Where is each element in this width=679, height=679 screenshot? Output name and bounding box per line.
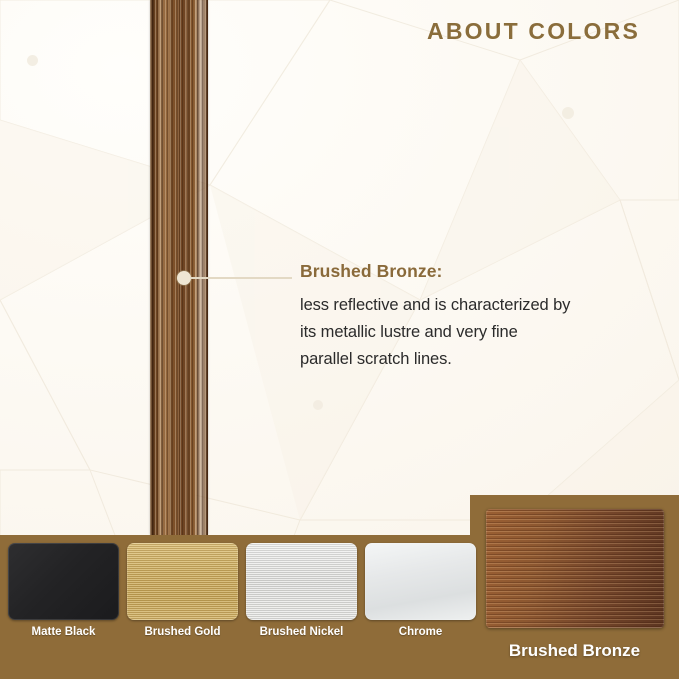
infographic-canvas: ABOUT COLORS Brushed Bronze: less reflec… <box>0 0 679 679</box>
swatch-label-matte-black: Matte Black <box>8 626 119 638</box>
swatch-matte-black[interactable] <box>8 543 119 620</box>
swatch-label-brushed-nickel: Brushed Nickel <box>246 626 357 638</box>
bar-highlight <box>158 0 173 535</box>
page-title: ABOUT COLORS <box>427 18 640 45</box>
callout-text-block: Brushed Bronze: less reflective and is c… <box>300 262 660 372</box>
background-dot-3 <box>313 400 323 410</box>
swatch-chrome[interactable] <box>365 543 476 620</box>
swatch-brushed-nickel[interactable] <box>246 543 357 620</box>
callout-dot-icon <box>177 271 191 285</box>
background-dot-1 <box>27 55 38 66</box>
callout-body-line-2: its metallic lustre and very fine <box>300 319 660 346</box>
callout-body-line-3: parallel scratch lines. <box>300 346 660 373</box>
callout-title: Brushed Bronze: <box>300 262 660 281</box>
swatch-label-brushed-bronze: Brushed Bronze <box>470 641 679 661</box>
swatch-label-chrome: Chrome <box>365 626 476 638</box>
callout-body-line-1: less reflective and is characterized by <box>300 292 660 319</box>
swatch-brushed-gold[interactable] <box>127 543 238 620</box>
background-dot-2 <box>562 107 574 119</box>
swatch-brushed-bronze[interactable] <box>486 509 664 628</box>
brushed-bronze-product-bar <box>150 0 208 535</box>
callout-leader-line <box>190 277 292 279</box>
swatch-label-brushed-gold: Brushed Gold <box>127 626 238 638</box>
